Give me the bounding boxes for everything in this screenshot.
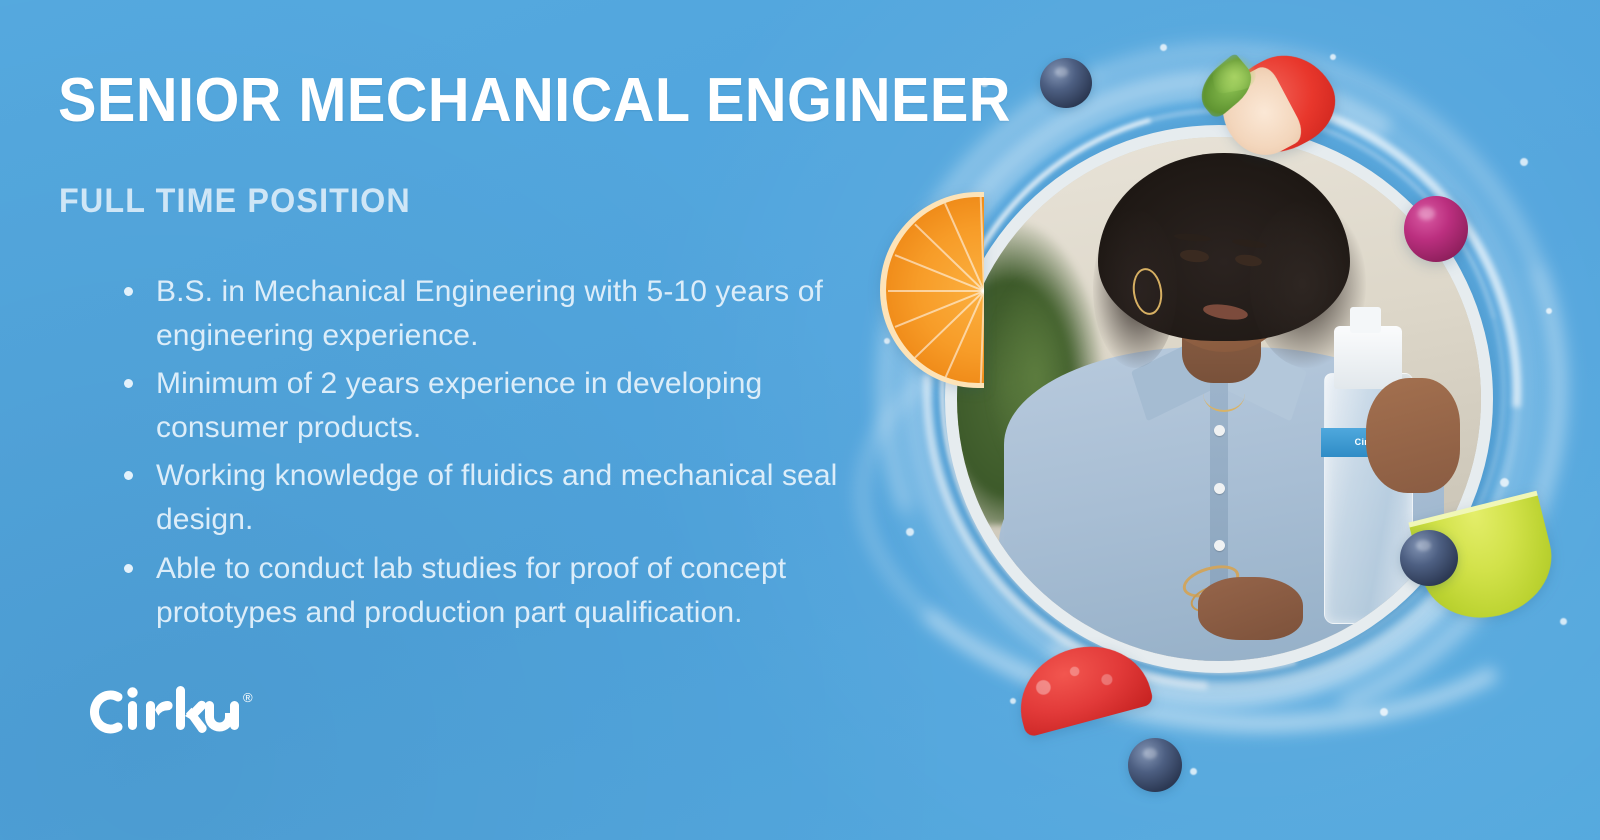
requirement-item: Minimum of 2 years experience in develop…: [118, 362, 878, 450]
requirement-text: Minimum of 2 years experience in develop…: [156, 367, 762, 444]
requirements-list: B.S. in Mechanical Engineering with 5-10…: [118, 270, 878, 639]
requirement-text: Working knowledge of fluidics and mechan…: [156, 459, 837, 536]
blueberry-bottom-icon: [1128, 738, 1182, 792]
blueberry-right-icon: [1400, 530, 1458, 586]
cirkul-wordmark-icon: [78, 684, 240, 740]
bullet-dot-icon: [124, 471, 133, 480]
cirkul-logo: ®: [78, 684, 253, 740]
requirement-text: B.S. in Mechanical Engineering with 5-10…: [156, 275, 823, 352]
requirement-item: Able to conduct lab studies for proof of…: [118, 547, 878, 635]
requirement-item: Working knowledge of fluidics and mechan…: [118, 454, 878, 542]
requirement-item: B.S. in Mechanical Engineering with 5-10…: [118, 270, 878, 358]
bullet-dot-icon: [124, 564, 133, 573]
requirement-text: Able to conduct lab studies for proof of…: [156, 552, 786, 629]
plum-berry-icon: [1404, 196, 1468, 262]
bullet-dot-icon: [124, 379, 133, 388]
photo-woman-with-bottle: Cirkul: [957, 137, 1481, 661]
job-title: SENIOR MECHANICAL ENGINEER: [58, 70, 1011, 132]
job-posting-banner: Cirkul: [0, 0, 1600, 840]
bullet-dot-icon: [124, 287, 133, 296]
blueberry-top-icon: [1040, 58, 1092, 108]
employment-type-subtitle: FULL TIME POSITION: [59, 182, 411, 221]
registered-trademark-symbol: ®: [243, 690, 253, 705]
